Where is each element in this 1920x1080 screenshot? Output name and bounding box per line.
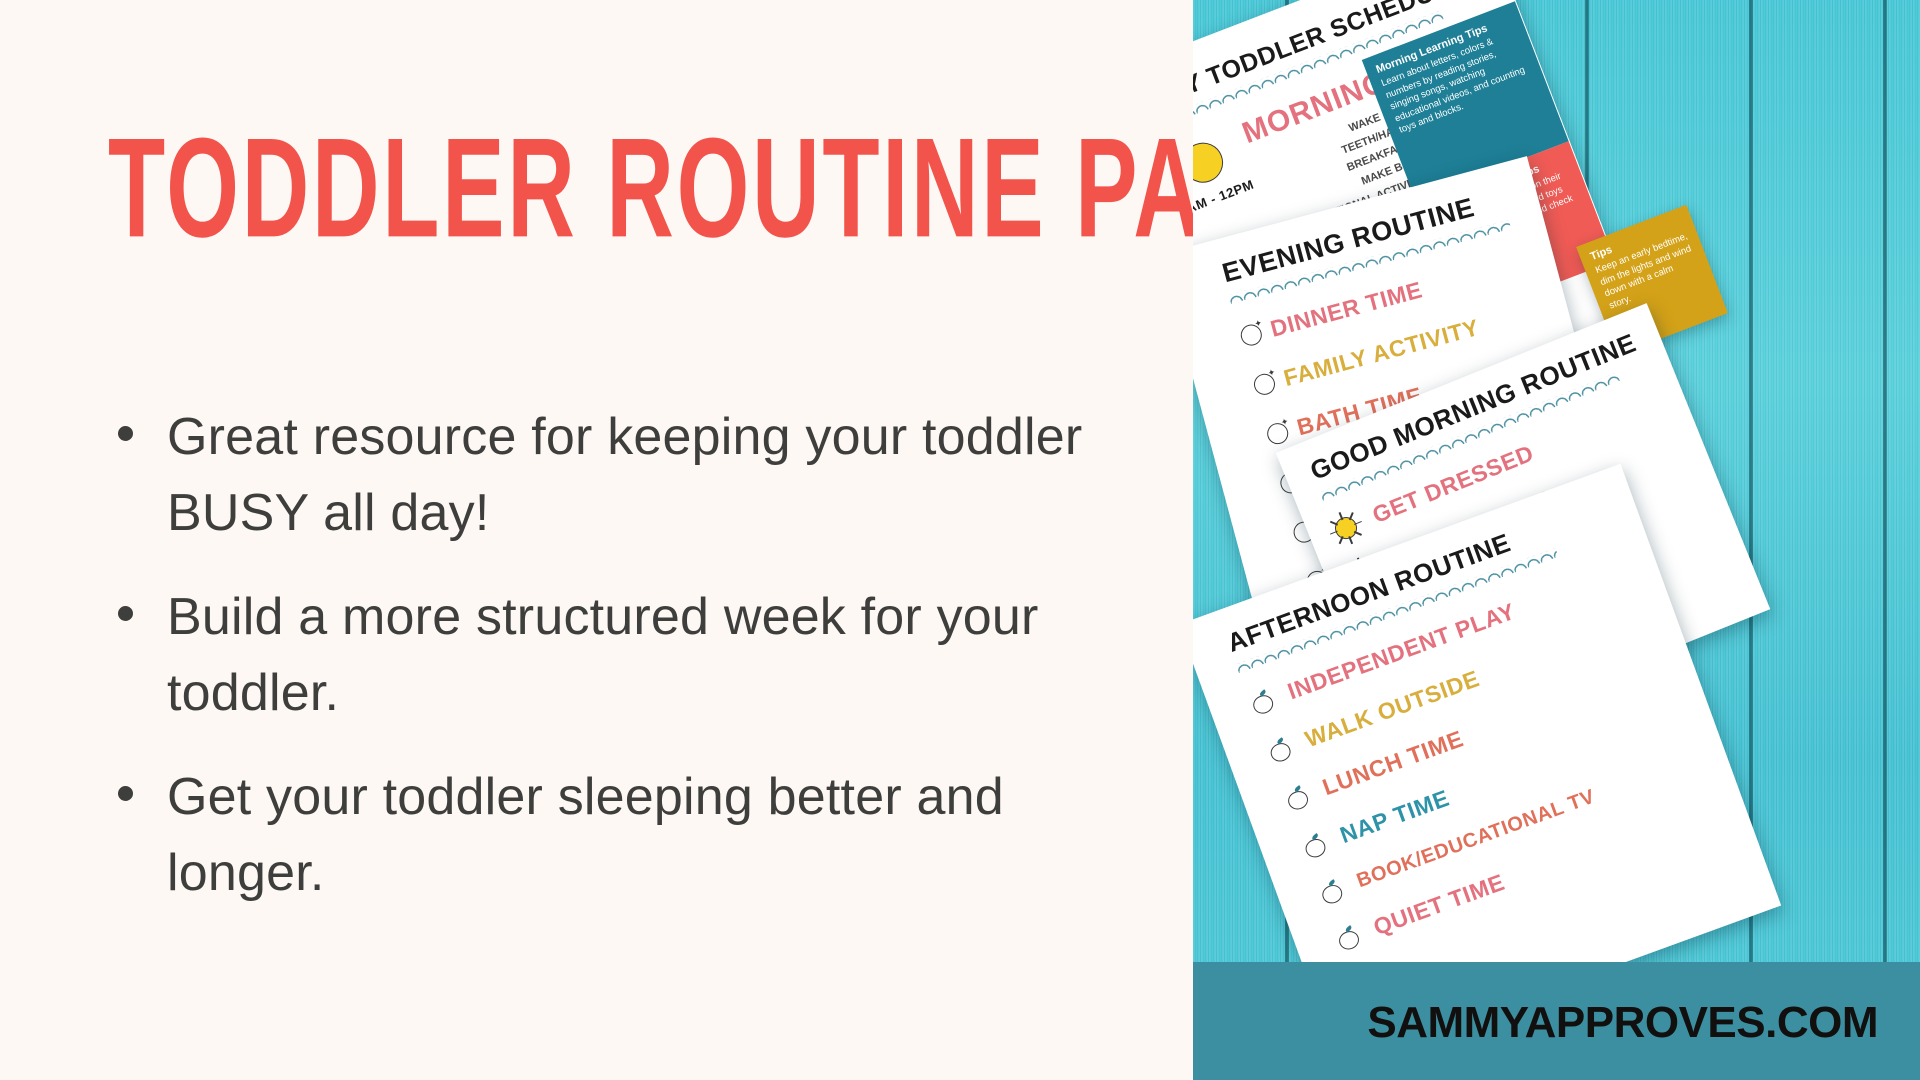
- sun-icon: [1193, 137, 1229, 189]
- plank-seam: [1749, 0, 1753, 1080]
- moon-icon: [1250, 370, 1278, 398]
- apple-icon: [1247, 688, 1276, 717]
- benefits-list: Great resource for keeping your toddler …: [118, 400, 1138, 939]
- bullet-dot-icon: [118, 606, 133, 621]
- apple-icon: [1299, 831, 1328, 860]
- apple-icon: [1333, 923, 1362, 952]
- apple-icon: [1282, 783, 1311, 812]
- page-title: TODDLER ROUTINE PACKET: [108, 118, 1017, 259]
- list-item: Get your toddler sleeping better and lon…: [118, 760, 1138, 912]
- apple-icon: [1316, 877, 1345, 906]
- routine-label: NAP TIME: [1336, 785, 1453, 849]
- list-item-label: Get your toddler sleeping better and lon…: [167, 760, 1097, 912]
- list-item: Build a more structured week for your to…: [118, 580, 1138, 732]
- moon-icon: [1237, 321, 1265, 349]
- bullet-dot-icon: [118, 426, 133, 441]
- list-item: Great resource for keeping your toddler …: [118, 400, 1138, 552]
- list-item-label: Great resource for keeping your toddler …: [167, 400, 1097, 552]
- product-photo: DAILY TODDLER SCHEDULE 7AM - 12PM MORNIN…: [1193, 0, 1920, 1080]
- watermark-text: SAMMYAPPROVES.COM: [1367, 998, 1878, 1048]
- moon-icon: [1264, 420, 1292, 448]
- apple-icon: [1265, 735, 1294, 764]
- bullet-dot-icon: [118, 786, 133, 801]
- left-text-panel: TODDLER ROUTINE PACKET Great resource fo…: [0, 0, 1193, 1080]
- list-item-label: Build a more structured week for your to…: [167, 580, 1097, 732]
- plank-seam: [1883, 0, 1887, 1080]
- sun-icon: [1332, 513, 1361, 542]
